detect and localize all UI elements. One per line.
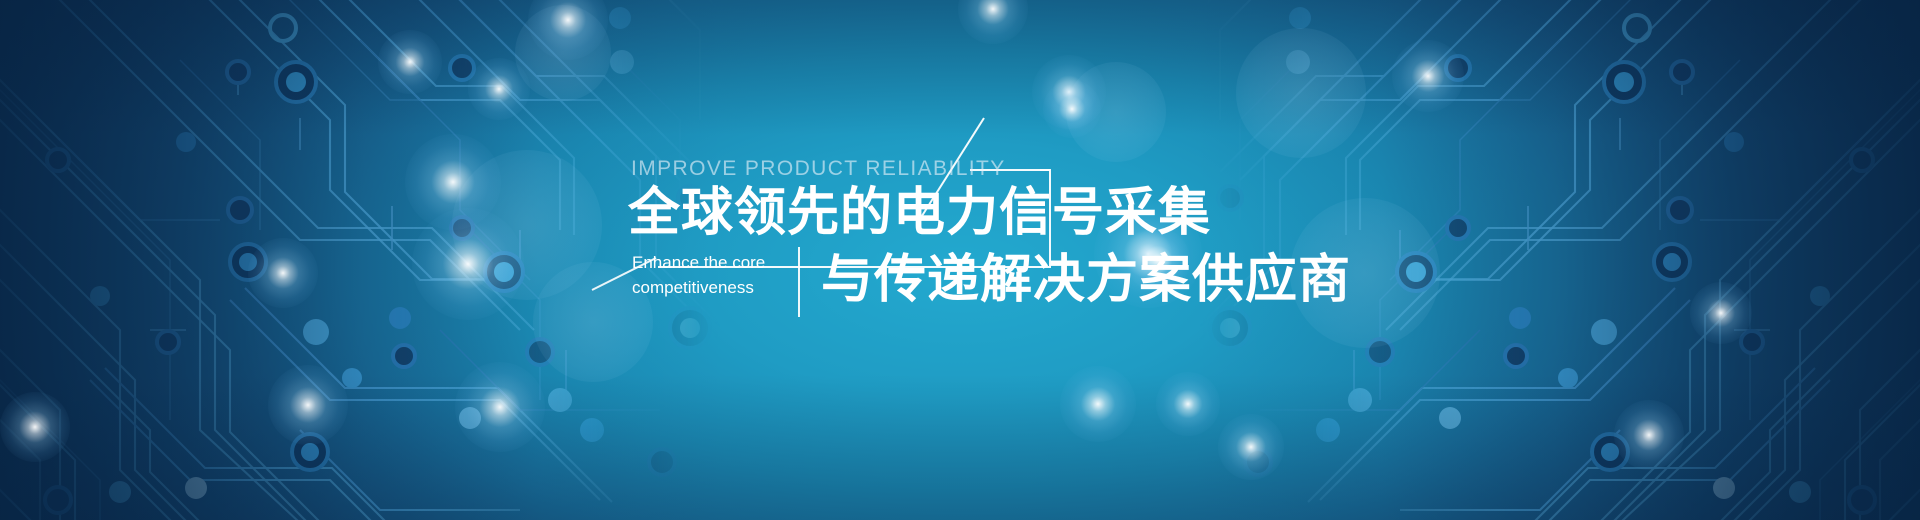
hero-copy: IMPROVE PRODUCT RELIABILITY 全球领先的电力信号采集 … bbox=[0, 0, 1920, 520]
subcopy-line-1: Enhance the core bbox=[632, 250, 808, 275]
subcopy-line-2: competitiveness bbox=[632, 275, 808, 300]
headline-line-1: 全球领先的电力信号采集 bbox=[628, 182, 1211, 244]
hero-banner: IMPROVE PRODUCT RELIABILITY 全球领先的电力信号采集 … bbox=[0, 0, 1920, 520]
eyebrow-tagline: IMPROVE PRODUCT RELIABILITY bbox=[631, 157, 1006, 181]
subcopy-block: Enhance the core competitiveness bbox=[632, 250, 808, 300]
headline-line-2: 与传递解决方案供应商 bbox=[821, 249, 1351, 311]
